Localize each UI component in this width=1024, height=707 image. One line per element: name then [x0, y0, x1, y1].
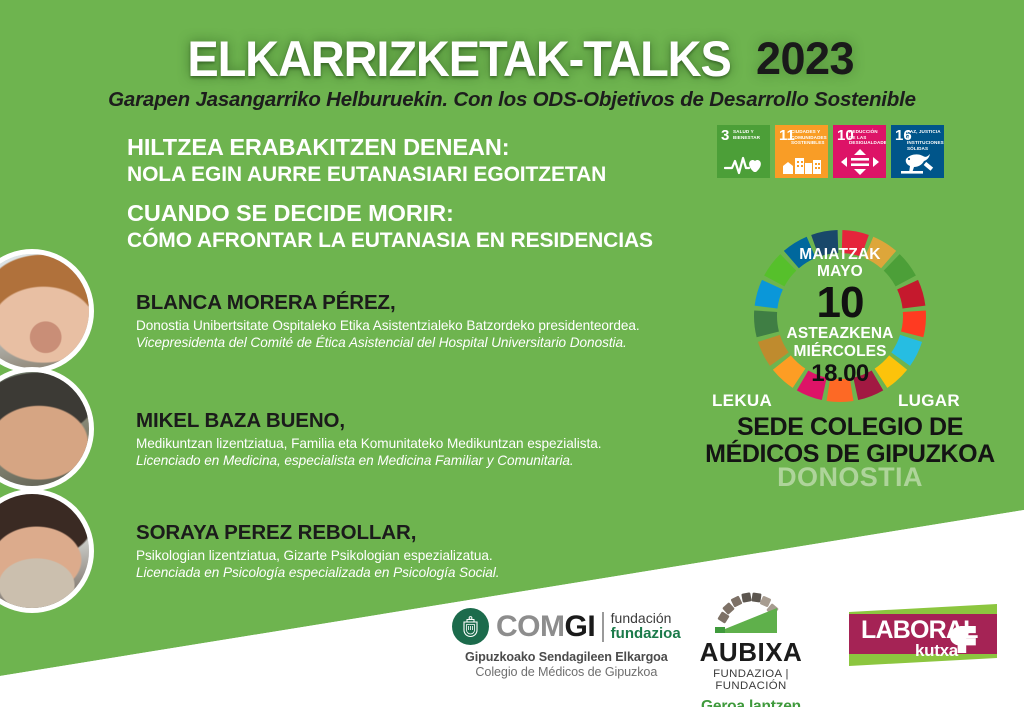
speaker-portrait-mikel [0, 367, 94, 491]
speaker-entry-soraya: SORAYA PEREZ REBOLLAR, Psikologian lizen… [136, 521, 500, 580]
speaker-entry-mikel: MIKEL BAZA BUENO, Medikuntzan lizentziat… [136, 409, 601, 468]
speaker-role-basque: Medikuntzan lizentziatua, Familia eta Ko… [136, 436, 601, 451]
headline-basque-line2: NOLA EGIN AURRE EUTANASIARI EGOITZETAN [127, 163, 606, 187]
laboral-kutxa-word: kutxa [915, 642, 958, 659]
sdg-label: SALUD Y BIENESTAR [733, 129, 769, 140]
equal-arrows-icon [833, 149, 886, 175]
venue-name-line1: SEDE COLEGIO DE [690, 414, 1010, 441]
sdg-label: CIUDADES Y COMUNIDADES SOSTENIBLES [791, 129, 827, 146]
city-icon [775, 154, 828, 175]
comgi-subtitle-basque: Gipuzkoako Sendagileen Elkargoa [465, 650, 668, 664]
sdg-wheel-segment [897, 280, 925, 309]
comgi-foundation-lockup: fundación fundazioa [611, 611, 681, 641]
portrait-photo [0, 254, 89, 368]
sdg-number: 3 [721, 128, 729, 143]
sdg-tile-16: 16 PAZ, JUSTICIA E INSTITUCIONES SÓLIDAS [891, 125, 944, 178]
comgi-wordmark: COMGI [496, 612, 595, 642]
headline-spanish-line1: CUANDO SE DECIDE MORIR: [127, 200, 454, 227]
headline-basque-line1: HILTZEA ERABAKITZEN DENEAN: [127, 134, 509, 161]
comgi-word-gi: GI [565, 610, 596, 643]
portrait-photo [0, 372, 89, 486]
comgi-divider [602, 612, 604, 642]
venue-label-basque: LEKUA [712, 391, 772, 411]
sdg-wheel-segment [755, 280, 783, 309]
logo-laboral-kutxa: LABORAL kutxa [849, 604, 997, 666]
sdg-wheel-segment [797, 370, 827, 400]
speaker-role-spanish: Licenciado en Medicina, especialista en … [136, 453, 601, 468]
speaker-role-basque: Psikologian lizentziatua, Gizarte Psikol… [136, 548, 500, 563]
logo-comgi: COMGI fundación fundazioa Gipuzkoako Sen… [452, 608, 681, 679]
logo-aubixa: AUBIXA FUNDAZIOA | FUNDACIÓN Geroa lantz… [676, 589, 826, 707]
poster-title-row: ELKARRIZKETAK-TALKS2023 [0, 30, 1024, 88]
speaker-name: MIKEL BAZA BUENO, [136, 409, 601, 433]
speaker-entry-blanca: BLANCA MORERA PÉREZ, Donostia Unibertsit… [136, 291, 640, 350]
venue-label-spanish: LUGAR [898, 391, 960, 411]
speaker-role-basque: Donostia Unibertsitate Ospitaleko Etika … [136, 318, 640, 333]
sdg-tile-3: 3 SALUD Y BIENESTAR [717, 125, 770, 178]
sdg-label: PAZ, JUSTICIA E INSTITUCIONES SÓLIDAS [907, 129, 943, 152]
sdg-tile-11: 11 CIUDADES Y COMUNIDADES SOSTENIBLES [775, 125, 828, 178]
dove-gavel-icon [891, 152, 944, 175]
sdg-wheel-segment [901, 310, 926, 337]
sdg-wheel-segment [853, 370, 883, 400]
sdg-wheel-segment [827, 378, 854, 402]
comgi-lockup: COMGI fundación fundazioa [452, 608, 681, 645]
aubixa-arch-icon [699, 620, 803, 637]
aubixa-tagline: Geroa lantzen [676, 698, 826, 707]
speaker-portrait-blanca [0, 249, 94, 373]
speaker-name: SORAYA PEREZ REBOLLAR, [136, 521, 500, 545]
aubixa-wordmark: AUBIXA [676, 639, 826, 665]
poster-subtitle: Garapen Jasangarriko Helburuekin. Con lo… [0, 88, 1024, 112]
sdg-wheel-segment [811, 230, 838, 257]
comgi-subtitle-spanish: Colegio de Médicos de Gipuzkoa [475, 665, 657, 679]
page-title: ELKARRIZKETAK-TALKS [187, 30, 730, 88]
venue-city: DONOSTIA [690, 462, 1010, 493]
speaker-portrait-soraya [0, 489, 94, 613]
aubixa-subtitle: FUNDAZIOA | FUNDACIÓN [676, 668, 826, 692]
sdg-colour-wheel [752, 228, 928, 404]
laboral-wordmark: LABORAL [861, 618, 978, 643]
venue-name: SEDE COLEGIO DE MÉDICOS DE GIPUZKOA [690, 414, 1010, 468]
title-year: 2023 [756, 33, 854, 85]
headline-spanish-line2: CÓMO AFRONTAR LA EUTANASIA EN RESIDENCIA… [127, 229, 653, 253]
portrait-photo [0, 494, 89, 608]
sdg-wheel-segment [842, 230, 869, 257]
comgi-word-com: COM [496, 610, 565, 643]
sdg-tile-10: 10 REDUCCIÓN DE LAS DESIGUALDADES [833, 125, 886, 178]
heartbeat-icon [717, 155, 770, 175]
speaker-role-spanish: Licenciada en Psicología especializada e… [136, 565, 500, 580]
event-poster: ELKARRIZKETAK-TALKS2023 Garapen Jasangar… [0, 0, 1024, 707]
comgi-fundacion-es: fundación [611, 611, 681, 626]
comgi-fundazioa-eu: fundazioa [611, 626, 681, 642]
sdg-wheel-segment [754, 310, 779, 337]
comgi-seal-icon [452, 608, 489, 645]
sdg-label: REDUCCIÓN DE LAS DESIGUALDADES [849, 129, 885, 146]
sdg-icon-strip: 3 SALUD Y BIENESTAR 11 CIUDADES Y COMUNI… [717, 125, 944, 178]
speaker-role-spanish: Vicepresidenta del Comité de Ética Asist… [136, 335, 640, 350]
speaker-name: BLANCA MORERA PÉREZ, [136, 291, 640, 315]
